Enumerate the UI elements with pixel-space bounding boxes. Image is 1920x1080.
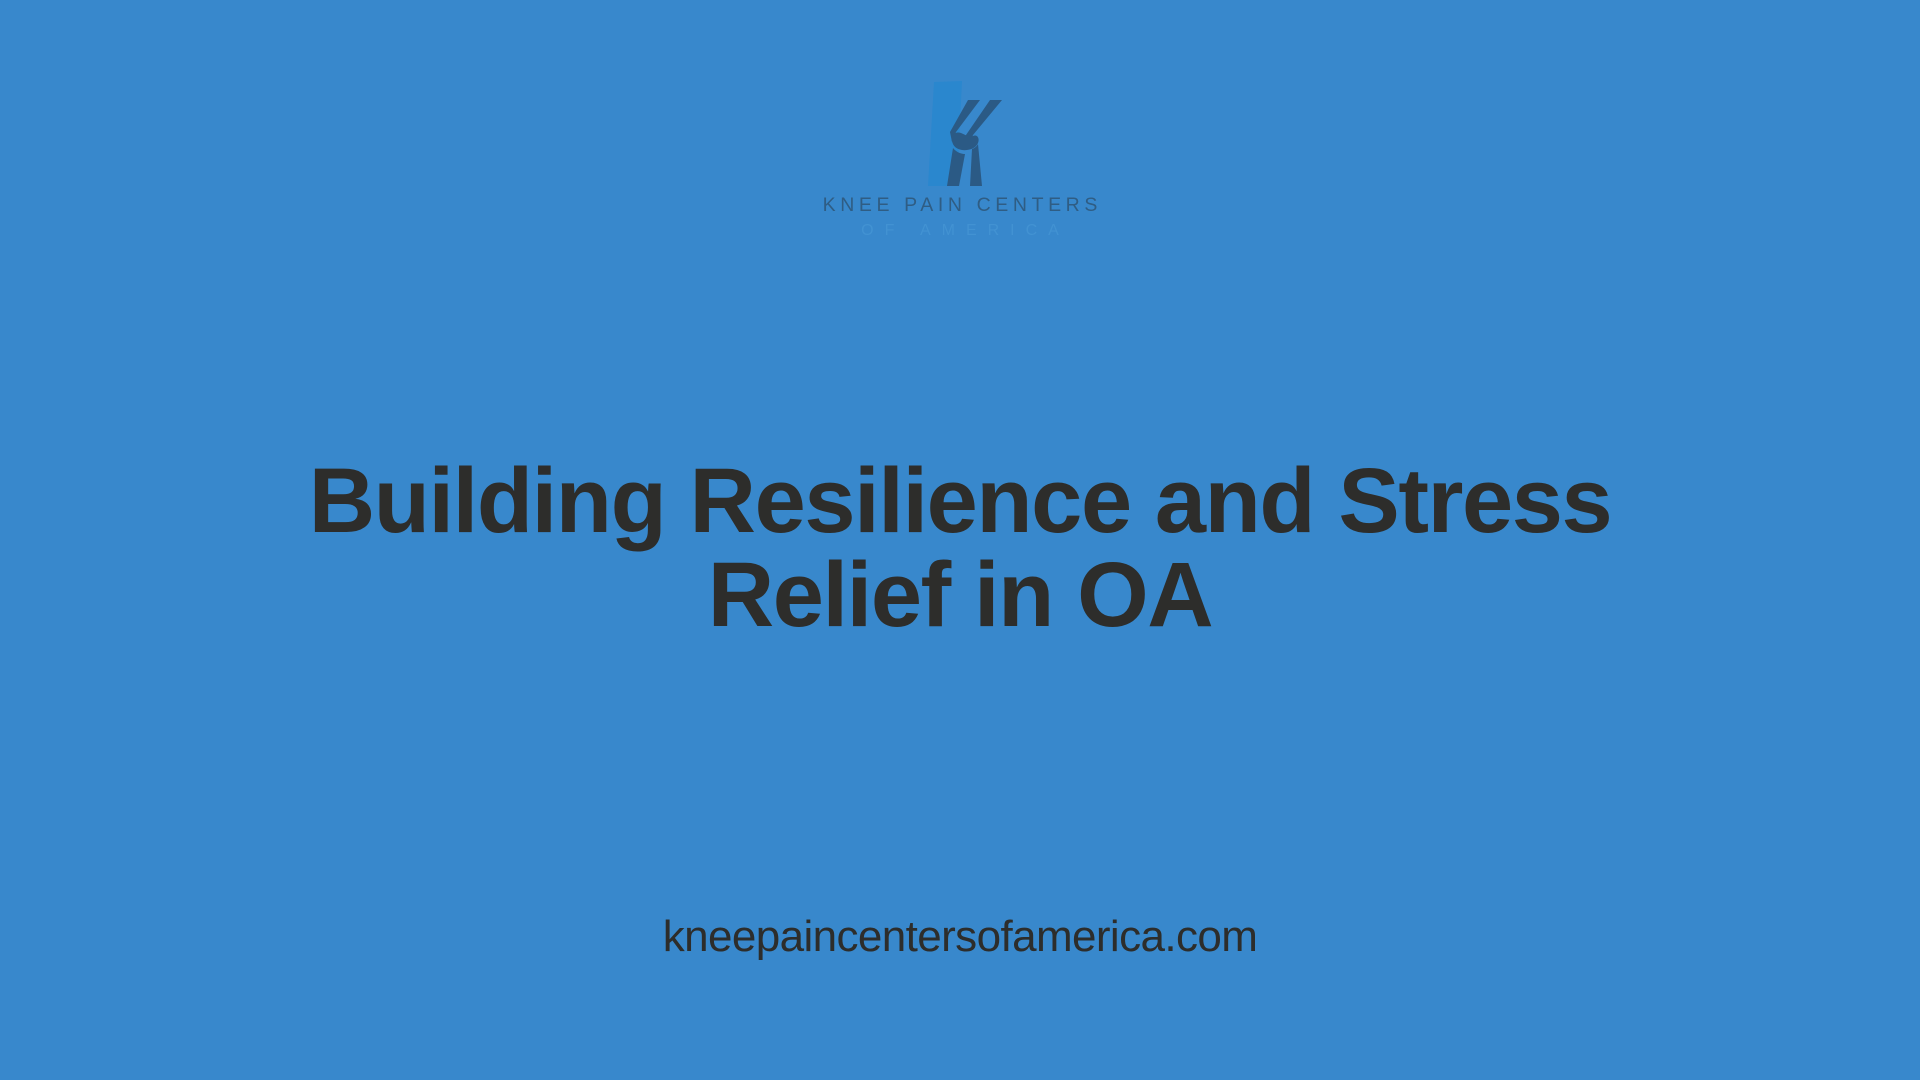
brand-logo: KNEE PAIN CENTERS OF AMERICA bbox=[0, 78, 1920, 239]
presentation-slide: KNEE PAIN CENTERS OF AMERICA Building Re… bbox=[0, 0, 1920, 1080]
website-url: kneepaincentersofamerica.com bbox=[0, 915, 1920, 959]
logo-wordmark: KNEE PAIN CENTERS bbox=[818, 196, 1102, 216]
logo-subwordmark: OF AMERICA bbox=[850, 223, 1070, 239]
page-title: Building Resilience and Stress Relief in… bbox=[250, 455, 1670, 643]
footer-section: kneepaincentersofamerica.com bbox=[0, 915, 1920, 959]
knee-pain-centers-k-knee-logo-icon bbox=[900, 78, 1020, 190]
title-section: Building Resilience and Stress Relief in… bbox=[0, 455, 1920, 643]
